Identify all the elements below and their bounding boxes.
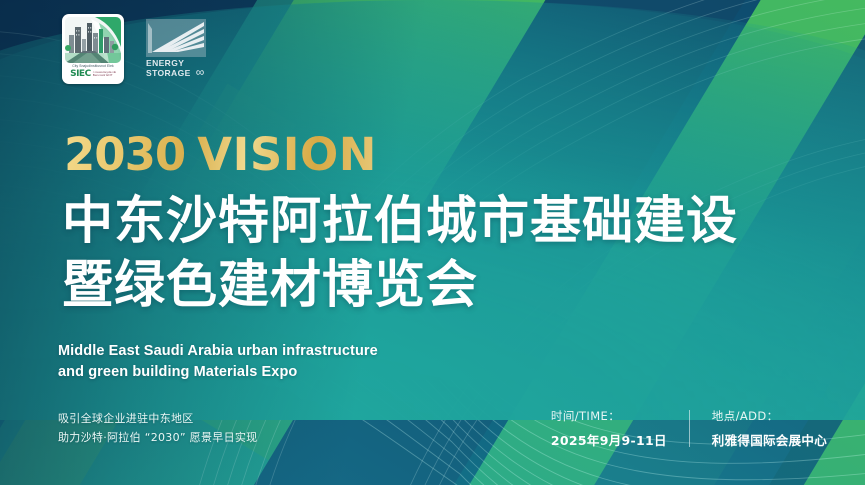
vision-headline: 2030VISION — [64, 128, 377, 181]
event-address-label: 地点/ADD： — [712, 408, 827, 424]
siec-wordmark: City Snajudinsitiusnot Elek SIEC r rouwe… — [65, 63, 121, 81]
logo-group: City Snajudinsitiusnot Elek SIEC r rouwe… — [62, 14, 206, 84]
vision-year: 2030 — [64, 128, 185, 181]
event-address-block: 地点/ADD： 利雅得国际会展中心 — [690, 408, 827, 449]
english-title-line1: Middle East Saudi Arabia urban infrastru… — [58, 341, 378, 362]
english-title: Middle East Saudi Arabia urban infrastru… — [58, 341, 378, 383]
energy-storage-logo: ENERGY STORAGE ∞ — [146, 19, 206, 78]
event-time-value: 2025年9月9-11日 — [551, 430, 667, 449]
city-skyline-icon — [65, 17, 121, 63]
event-info: 时间/TIME： 2025年9月9-11日 地点/ADD： 利雅得国际会展中心 — [551, 408, 827, 449]
tagline-line2: 助力沙特·阿拉伯 “2030” 愿景早日实现 — [58, 428, 257, 447]
vision-word: VISION — [197, 128, 377, 181]
tagline: 吸引全球企业进驻中东地区 助力沙特·阿拉伯 “2030” 愿景早日实现 — [58, 409, 257, 448]
event-banner: City Snajudinsitiusnot Elek SIEC r rouwe… — [0, 0, 865, 485]
energy-streaks-icon — [146, 19, 206, 57]
chinese-title-line1: 中东沙特阿拉伯城市基础建设 — [62, 192, 738, 251]
tagline-line1: 吸引全球企业进驻中东地区 — [58, 409, 257, 428]
siec-tagline: City Snajudinsitiusnot Elek — [72, 65, 114, 68]
infinity-icon: ∞ — [196, 66, 205, 78]
event-address-value: 利雅得国际会展中心 — [712, 430, 827, 449]
banner-content: City Snajudinsitiusnot Elek SIEC r rouwe… — [0, 0, 865, 485]
siec-sub-line2: Bencosiir ENT — [93, 74, 116, 77]
chinese-title: 中东沙特阿拉伯城市基础建设 暨绿色建材博览会 — [62, 190, 738, 319]
storage-label: STORAGE — [146, 69, 191, 79]
energy-storage-wordmark: ENERGY STORAGE ∞ — [146, 59, 204, 78]
english-title-line2: and green building Materials Expo — [58, 362, 378, 383]
event-time-label: 时间/TIME： — [551, 408, 667, 424]
chinese-title-line2: 暨绿色建材博览会 — [62, 254, 738, 318]
siec-logo: City Snajudinsitiusnot Elek SIEC r rouwe… — [62, 14, 124, 84]
siec-acronym: SIEC — [70, 70, 91, 79]
event-time-block: 时间/TIME： 2025年9月9-11日 — [551, 408, 689, 449]
